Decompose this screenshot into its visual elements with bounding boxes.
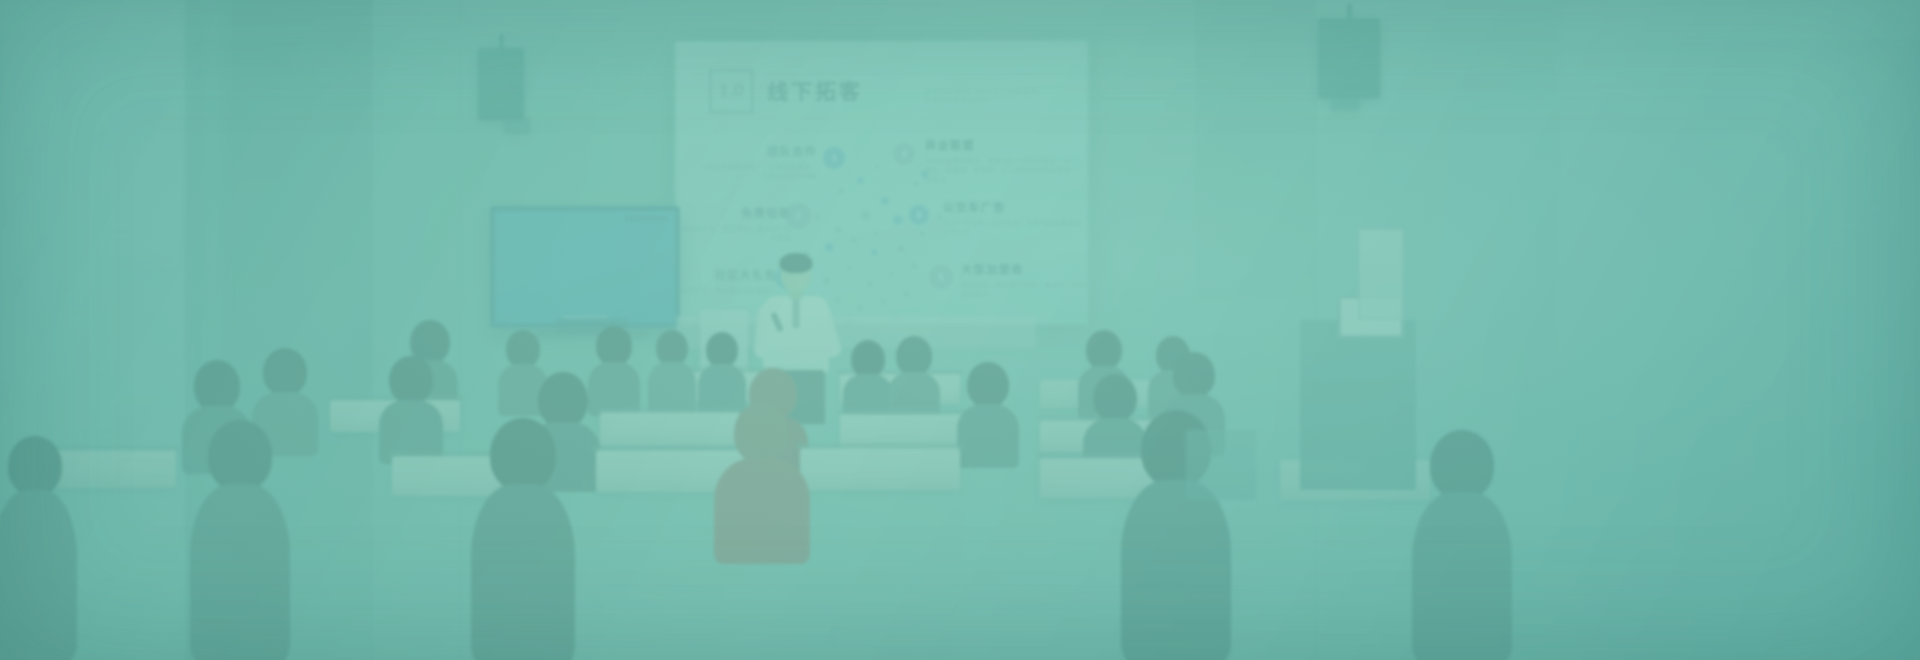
seminar-photo: 1.0 线下拓客 OFFLINE CUSTOMER EXPANSION 团队合作… bbox=[0, 0, 1920, 660]
hero-banner: 1.0 线下拓客 OFFLINE CUSTOMER EXPANSION 团队合作… bbox=[0, 0, 1920, 660]
vignette bbox=[0, 0, 1920, 660]
